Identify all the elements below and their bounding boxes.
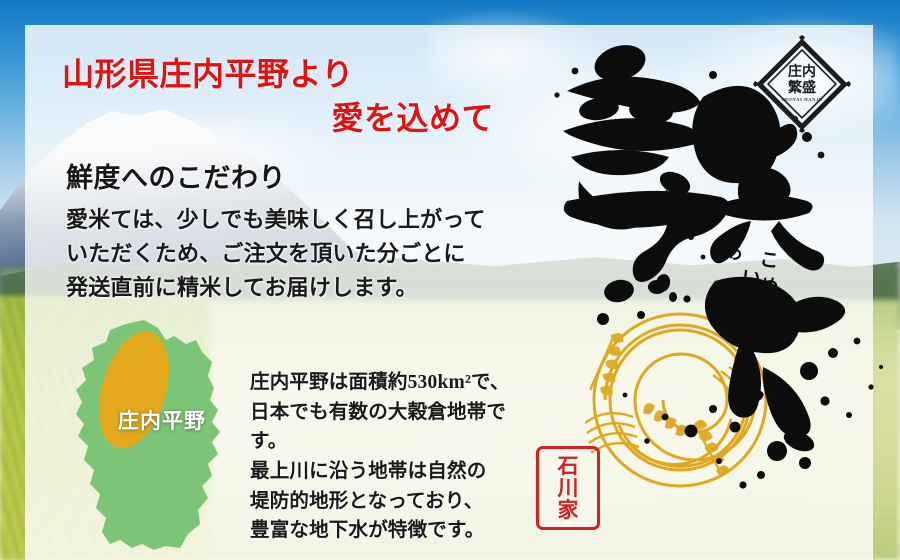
seal-shonai-hanjo: 庄内 繁盛 SHONAI HANJO bbox=[753, 35, 851, 133]
yamagata-map bbox=[62, 318, 252, 553]
headline: 山形県庄内平野より 愛を込めて bbox=[62, 52, 532, 140]
furigana-char-3: こ bbox=[758, 249, 780, 272]
map-desc-line-4: 堤防的地形となっており、 bbox=[250, 487, 530, 517]
body-paragraph: 愛米ては、少しでも美味しく召し上がって いただくため、ご注文を頂いた分ごとに 発… bbox=[66, 203, 536, 305]
seal-red-char-2: 川 bbox=[558, 477, 579, 499]
map-desc-line-5: 豊富な地下水が特徴です。 bbox=[250, 516, 530, 546]
body-line-3: 発送直前に精米してお届けします。 bbox=[66, 271, 536, 305]
seal-ishikawa-ke: 石 川 家 bbox=[536, 446, 600, 530]
seal-diamond-text: 庄内 繁盛 SHONAI HANJO bbox=[753, 35, 851, 133]
map-svg bbox=[62, 318, 252, 553]
furigana-char-1: あ bbox=[722, 240, 744, 264]
seal-diamond-line-1: 庄内 bbox=[788, 65, 816, 80]
map-desc-line-1: 庄内平野は面積約530km²で、 bbox=[250, 368, 530, 398]
body-line-1: 愛米ては、少しでも美味しく召し上がって bbox=[66, 203, 536, 237]
seal-diamond-caption: SHONAI HANJO bbox=[781, 98, 823, 103]
subheading: 鮮度へのこだわり bbox=[66, 156, 286, 195]
map-label-shonai-plain: 庄内平野 bbox=[118, 405, 206, 435]
map-desc-line-3: 最上川に沿う地帯は自然の bbox=[250, 457, 530, 487]
banner-image: 山形県庄内平野より 愛を込めて 鮮度へのこだわり 愛米ては、少しでも美味しく召し… bbox=[0, 0, 900, 560]
headline-line-1: 山形県庄内平野より bbox=[62, 56, 354, 92]
map-description: 庄内平野は面積約530km²で、 日本でも有数の大穀倉地帯です。 最上川に沿う地… bbox=[250, 368, 530, 546]
seal-red-char-1: 石 bbox=[558, 455, 579, 477]
seal-diamond-line-2: 繁盛 bbox=[788, 81, 816, 96]
seal-red-char-3: 家 bbox=[558, 499, 579, 521]
ink-splatter-svg bbox=[595, 275, 895, 505]
headline-line-2: 愛を込めて bbox=[62, 96, 532, 140]
map-desc-line-2: 日本でも有数の大穀倉地帯です。 bbox=[250, 398, 530, 457]
ink-splatter bbox=[595, 275, 895, 505]
body-line-2: いただくため、ご注文を頂いた分ごとに bbox=[66, 237, 536, 271]
